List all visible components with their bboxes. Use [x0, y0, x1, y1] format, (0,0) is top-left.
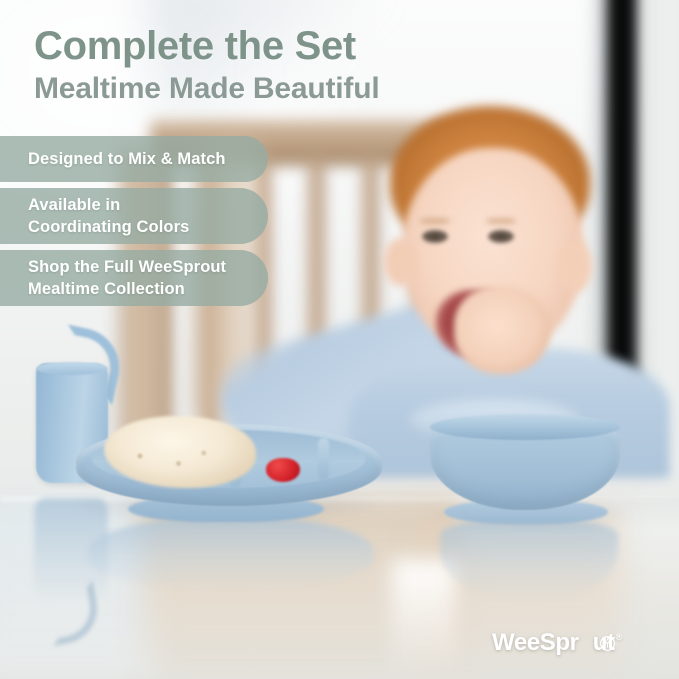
- toddler-eyebrow-right: [486, 218, 516, 224]
- feature-pill-label: Shop the Full WeeSprout: [28, 256, 228, 278]
- feature-pill-label: Coordinating Colors: [28, 216, 228, 238]
- toddler-ear-left: [384, 238, 416, 286]
- raspberry: [266, 458, 300, 482]
- feature-pill-label: Available in: [28, 194, 228, 216]
- feature-pill-list: Designed to Mix & Match Available in Coo…: [0, 136, 280, 312]
- page-title: Complete the Set: [34, 24, 356, 69]
- plate-divider-secondary: [318, 438, 329, 480]
- bowl-rim: [430, 414, 620, 440]
- plate-reflection: [88, 516, 374, 592]
- cup-rim: [36, 362, 108, 375]
- feature-pill-shop-collection: Shop the Full WeeSprout Mealtime Collect…: [0, 250, 268, 306]
- brand-logo: WeeSprout ®: [492, 630, 622, 656]
- food-texture: [118, 444, 228, 474]
- feature-pill-label: Mealtime Collection: [28, 278, 228, 300]
- table-window-glare: [392, 560, 456, 679]
- brand-name: WeeSprout: [492, 630, 615, 656]
- brand-name-part1: WeeSpr: [492, 629, 579, 656]
- toddler-ear-right: [558, 240, 592, 292]
- brand-logo-o-placeholder: o: [579, 629, 593, 656]
- product-lifestyle-banner: Complete the Set Mealtime Made Beautiful…: [0, 0, 679, 679]
- registered-trademark: ®: [616, 632, 623, 642]
- toddler-eye-right: [488, 230, 514, 243]
- page-subtitle: Mealtime Made Beautiful: [34, 72, 379, 106]
- toddler-eyebrow-left: [420, 218, 450, 224]
- feature-pill-mix-match: Designed to Mix & Match: [0, 136, 268, 182]
- feature-pill-coordinating-colors: Available in Coordinating Colors: [0, 188, 268, 244]
- toddler: [330, 100, 679, 460]
- feature-pill-label: Designed to Mix & Match: [28, 148, 226, 170]
- sprout-icon: [600, 636, 615, 651]
- toddler-eye-left: [422, 230, 448, 243]
- toddler-hand: [454, 286, 550, 374]
